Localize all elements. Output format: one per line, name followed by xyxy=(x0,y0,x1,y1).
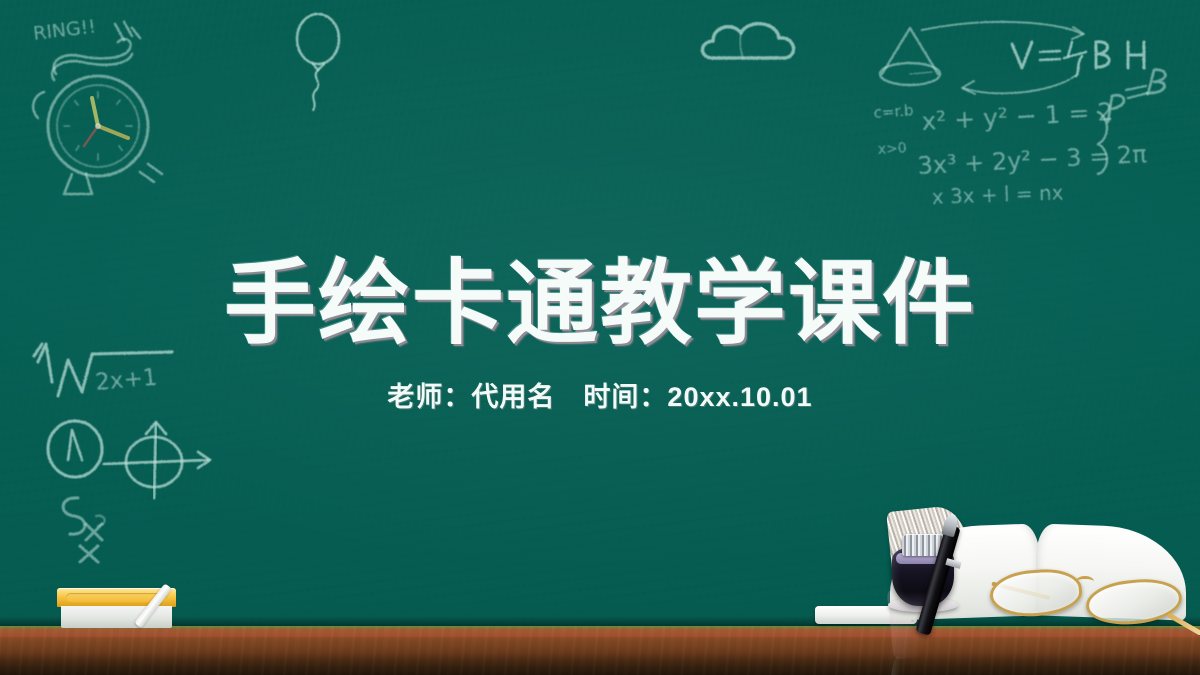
eyeglasses xyxy=(990,566,1195,626)
title-block: 手绘卡通教学课件 老师：代用名 时间：20xx.10.01 xyxy=(0,255,1200,414)
page-title: 手绘卡通教学课件 xyxy=(0,255,1200,353)
subtitle: 老师：代用名 时间：20xx.10.01 xyxy=(0,375,1200,414)
eyeglasses-lens-left xyxy=(989,567,1084,619)
desk-objects xyxy=(880,498,1200,638)
eyeglasses-lens-right xyxy=(1084,575,1184,629)
eyeglasses-bridge xyxy=(1076,576,1094,587)
presentation-slide: RING!! xyxy=(0,0,1200,675)
eyeglasses-temple-right xyxy=(1167,612,1200,635)
